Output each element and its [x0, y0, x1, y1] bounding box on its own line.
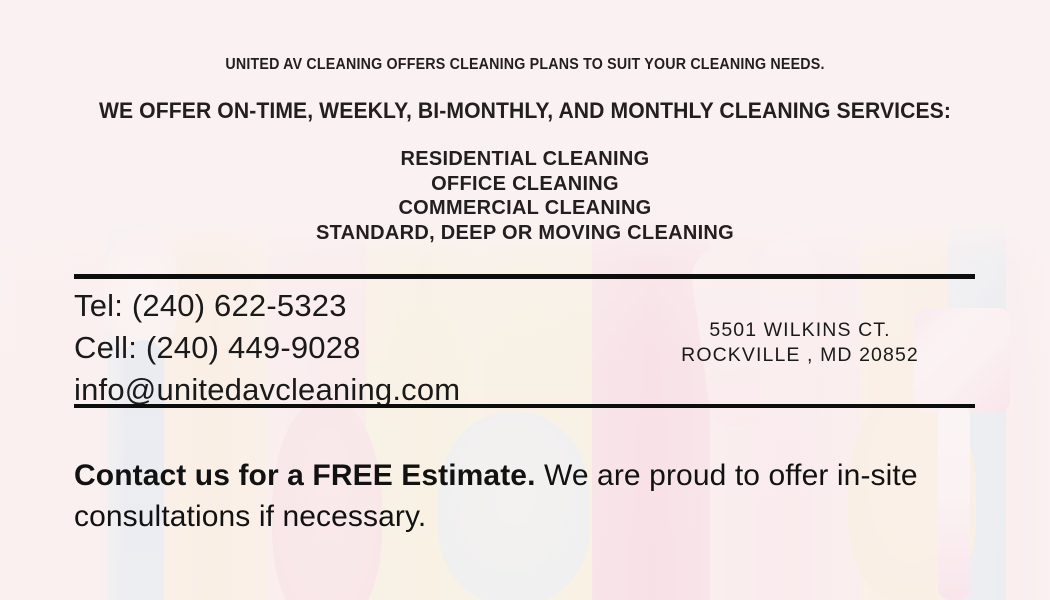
- services-list: RESIDENTIAL CLEANING OFFICE CLEANING COM…: [0, 147, 1050, 245]
- contact-details: Tel: (240) 622-5323 Cell: (240) 449-9028…: [74, 285, 594, 411]
- footer-paragraph: Contact us for a FREE Estimate. We are p…: [74, 455, 974, 537]
- footer-callout: Contact us for a FREE Estimate. We are p…: [74, 455, 974, 537]
- divider-rule-top: [74, 274, 975, 279]
- service-item-residential: RESIDENTIAL CLEANING: [0, 147, 1050, 172]
- flyer-content: UNITED AV CLEANING OFFERS CLEANING PLANS…: [0, 0, 1050, 600]
- contact-cell[interactable]: Cell: (240) 449-9028: [74, 327, 594, 369]
- headline-primary: UNITED AV CLEANING OFFERS CLEANING PLANS…: [42, 56, 1008, 74]
- address-city-state-zip: ROCKVILLE , MD 20852: [620, 343, 980, 368]
- divider-rule-bottom: [74, 404, 975, 408]
- service-item-commercial: COMMERCIAL CLEANING: [0, 196, 1050, 221]
- headline-secondary: WE OFFER ON-TIME, WEEKLY, BI-MONTHLY, AN…: [32, 98, 1019, 124]
- service-item-standard-deep-moving: STANDARD, DEEP OR MOVING CLEANING: [0, 221, 1050, 246]
- contact-telephone[interactable]: Tel: (240) 622-5323: [74, 285, 594, 327]
- footer-estimate-emphasis: Contact us for a FREE Estimate.: [74, 459, 536, 492]
- cleaning-service-flyer: UNITED AV CLEANING OFFERS CLEANING PLANS…: [0, 0, 1050, 600]
- business-address: 5501 WILKINS CT. ROCKVILLE , MD 20852: [620, 318, 980, 368]
- address-street: 5501 WILKINS CT.: [620, 318, 980, 343]
- service-item-office: OFFICE CLEANING: [0, 172, 1050, 197]
